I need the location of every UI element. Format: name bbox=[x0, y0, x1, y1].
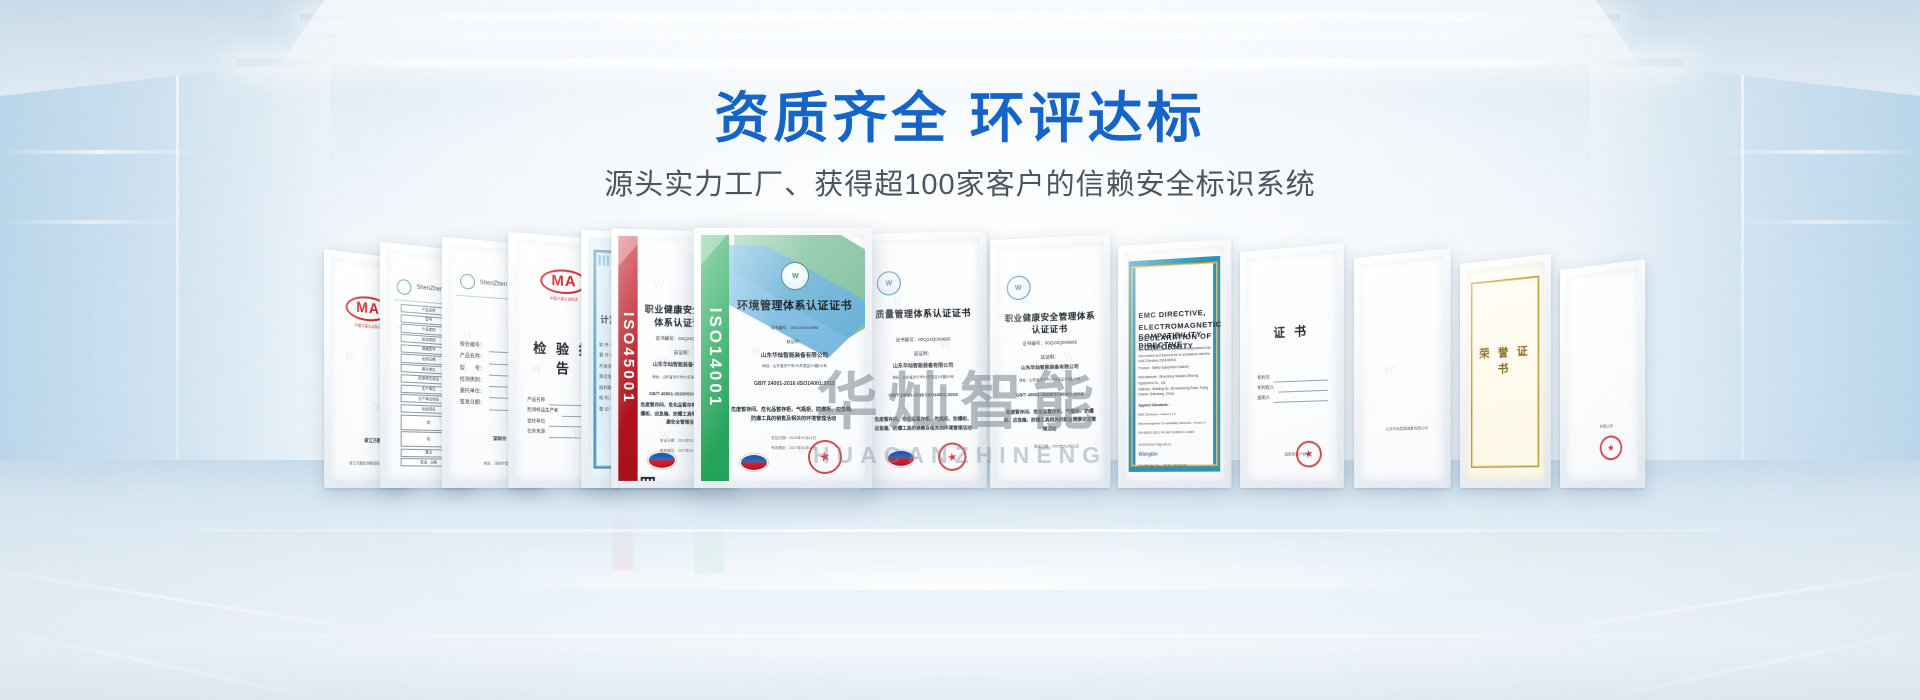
company-logo-roundel bbox=[740, 454, 768, 471]
field-label: 检测类别： bbox=[460, 374, 485, 387]
band-corner-accent bbox=[618, 236, 644, 267]
wall-light-slat bbox=[0, 220, 180, 224]
reflection bbox=[860, 488, 986, 570]
field-label: 型 号： bbox=[460, 363, 485, 376]
standard-reference: GB/T 45001-2020/ISO45001:2018 bbox=[1003, 390, 1097, 400]
signature-label: Authorized Signature bbox=[1138, 441, 1214, 449]
declaration-body: We hereby declare that the following app… bbox=[1138, 345, 1214, 365]
official-seal-stamp: ★ bbox=[805, 436, 845, 476]
page-title: 资质齐全 环评达标 bbox=[0, 86, 1920, 151]
certificate-paper: 有限公司 ★ bbox=[1566, 267, 1638, 481]
certificate-reference: Certificate No. : DOF-CE24142 bbox=[1138, 462, 1214, 469]
field-row: 发明人 bbox=[1257, 391, 1328, 404]
company-address: 地址：山东省济宁市XX开发区XX路XX号 bbox=[734, 363, 855, 369]
certification-scope: 危废暂存间、危化品暂存柜、气瓶柜、防爆柜、应急箱、防爆工具相关的职业健康安全管理… bbox=[1003, 407, 1097, 434]
field-label: 专利号 bbox=[1257, 373, 1270, 384]
field-label: 签发日期： bbox=[460, 398, 485, 410]
company-name: 山东华灿智能装备有限公司 bbox=[734, 351, 855, 361]
certificate-title: 荣 誉 证 书 bbox=[1474, 341, 1536, 378]
certificate-paper: W 职业健康安全管理体系认证证书 证书编号：00Q24Q009895 兹证明： … bbox=[997, 242, 1103, 481]
certificate-title: 质量管理体系认证证书 bbox=[874, 306, 973, 321]
certificate-number: 证书编号：00Q24Q009895 bbox=[874, 335, 973, 345]
company-address: 地址：山东省济宁市XX开发区XX路XX号 bbox=[874, 374, 973, 381]
company-label: 兹证明： bbox=[1003, 352, 1097, 363]
certificate-frame[interactable]: EMC DIRECTIVE, ELECTROMAGNETIC COMPATIBI… bbox=[1118, 239, 1231, 488]
certificate-side-band: ISO14001 bbox=[701, 235, 729, 481]
floor-seam-line bbox=[0, 635, 1920, 638]
certificate-title: 证 书 bbox=[1254, 320, 1330, 342]
certificate-paper: W 质量管理体系认证证书 证书编号：00Q24Q009895 兹证明： 山东华灿… bbox=[867, 238, 980, 481]
reflection bbox=[1354, 488, 1454, 560]
reflection-band bbox=[612, 488, 633, 570]
standard-code-label: ISO45001 bbox=[619, 312, 636, 405]
field-label: 委托单位： bbox=[460, 386, 485, 398]
certificate-frame[interactable]: W 质量管理体系认证证书 证书编号：00Q24Q009895 兹证明： 山东华灿… bbox=[860, 230, 987, 488]
issue-date: 发证日期：2024年01月01日 bbox=[731, 435, 857, 442]
certificate-frame[interactable]: ISO14001 W 环境管理体系认证证书 证书编号：00E24E009895 … bbox=[694, 228, 872, 488]
patent-fields: 专利号 专利权人 发明人 bbox=[1257, 371, 1328, 404]
signature-name: Wangbin bbox=[1138, 450, 1214, 460]
certificate-frame[interactable]: 荣 誉 证 书 bbox=[1460, 253, 1551, 488]
company-address: 地址：山东省济宁市XX开发区XX路XX号 bbox=[1003, 376, 1097, 384]
company-label: 兹证明： bbox=[874, 350, 973, 360]
certification-scope: 危废暂存间、危化品暂存柜、气瓶柜、防爆柜、应急箱、防爆工具的销售及相关的环境管理… bbox=[874, 415, 973, 433]
certificate-footer-note: 有限公司 bbox=[1579, 422, 1635, 431]
ceiling-light-strip bbox=[320, 34, 1600, 39]
organization-seal-icon bbox=[460, 274, 475, 291]
field-label: 检测样品生产者 bbox=[527, 405, 558, 416]
accreditation-badge-icon: W bbox=[781, 262, 809, 290]
band-corner-accent bbox=[701, 235, 727, 265]
address-line: Address : Building No. 28 Huacheng Road,… bbox=[1138, 385, 1214, 399]
certificate-frame[interactable]: 山东华灿智能装备有限公司 W bbox=[1354, 248, 1451, 488]
certificate-title: 职业健康安全管理体系认证证书 bbox=[1003, 309, 1097, 336]
certificate-wall-banner: 资质齐全 环评达标 源头实力工厂、获得超100家客户的信赖安全标识系统 MA 中… bbox=[0, 0, 1920, 700]
reflection bbox=[1460, 488, 1556, 558]
official-seal-stamp: ★ bbox=[935, 440, 969, 474]
company-name: 山东华灿智能装备有限公司 bbox=[1003, 364, 1097, 375]
paper-watermark: W bbox=[1361, 256, 1444, 481]
reflection bbox=[1240, 488, 1346, 562]
certificate-frame[interactable]: 证 书 专利号 专利权人 发明人 国家知识产权局 ★ bbox=[1240, 243, 1344, 488]
page-subtitle: 源头实力工厂、获得超100家客户的信赖安全标识系统 bbox=[0, 167, 1920, 205]
ceiling-light-strip bbox=[300, 14, 1620, 21]
issue-date: 签发日期：2024年01月01日 bbox=[1016, 443, 1098, 451]
company-logo-roundel bbox=[648, 452, 676, 469]
official-seal-stamp: ★ bbox=[1598, 432, 1625, 462]
certificate-paper: 荣 誉 证 书 bbox=[1466, 262, 1544, 481]
field-value bbox=[1274, 391, 1328, 403]
certification-scope: 危废暂存间、危化品暂存柜、气瓶柜、防爆柜、应急箱、防爆工具的销售及相关的环境管理… bbox=[731, 406, 857, 425]
reflection bbox=[694, 488, 872, 574]
field-label: 发明人 bbox=[1257, 393, 1270, 403]
organization-seal-icon bbox=[397, 278, 412, 295]
standard-reference: GB/T 24001-2016 /ISO14001:2015 bbox=[874, 391, 973, 400]
organization-name: ShenZhen bbox=[480, 280, 507, 288]
company-name: 山东华灿智能装备有限公司 bbox=[874, 362, 973, 372]
certificate-number: 证书编号：00Q24Q009895 bbox=[1003, 338, 1097, 349]
ceiling-light-strip bbox=[236, 58, 1684, 67]
field-label: 任务来源 bbox=[527, 427, 545, 438]
reflection bbox=[990, 488, 1110, 568]
certificate-frame[interactable]: W 职业健康安全管理体系认证证书 证书编号：00Q24Q009895 兹证明： … bbox=[990, 234, 1111, 488]
floor-reflections bbox=[0, 488, 1920, 618]
certificate-frame[interactable]: 有限公司 ★ bbox=[1560, 259, 1645, 488]
banner-headings: 资质齐全 环评达标 源头实力工厂、获得超100家客户的信赖安全标识系统 bbox=[0, 86, 1920, 205]
certificate-side-band: ISO45001 bbox=[618, 236, 637, 481]
field-label: 委托单位 bbox=[527, 416, 545, 427]
accreditation-badge-icon: W bbox=[1006, 276, 1030, 301]
organization-name: ShenZhen bbox=[416, 285, 443, 294]
reflection bbox=[1560, 488, 1652, 556]
qr-code bbox=[641, 477, 655, 481]
company-logo-roundel bbox=[887, 449, 915, 466]
wall-light-slat bbox=[1740, 220, 1920, 224]
certificate-paper: EMC DIRECTIVE, ELECTROMAGNETIC COMPATIBI… bbox=[1125, 246, 1225, 481]
certificate-footer-note: 山东华灿智能装备有限公司 bbox=[1375, 424, 1439, 433]
certificate-wall: MA 中国计量认证标志 浙江方圆 浙江方圆检测集团股份有限公司 WW ShenZ… bbox=[0, 228, 1920, 488]
accreditation-badge-icon: W bbox=[877, 271, 901, 296]
field-label: 专利权人 bbox=[1257, 383, 1274, 394]
certificate-title: 环境管理体系认证证书 bbox=[734, 297, 855, 313]
standard-reference: GB/T 24001-2016 /ISO14001:2015 bbox=[734, 380, 855, 389]
certificate-paper: 山东华灿智能装备有限公司 W bbox=[1361, 256, 1444, 481]
certificate-paper: ISO14001 W 环境管理体系认证证书 证书编号：00E24E009895 … bbox=[701, 235, 865, 481]
standard-item: EN 55032:2015, EN IEC 61000-6-1:2019 bbox=[1138, 429, 1214, 436]
official-seal-stamp: ★ bbox=[1294, 438, 1325, 470]
reflection bbox=[1118, 488, 1232, 566]
standard-code-label: ISO14001 bbox=[705, 308, 725, 409]
field-label: 产品名称 bbox=[527, 394, 545, 405]
certificate-number: 证书编号：00E24E009895 bbox=[734, 324, 855, 331]
reflection-band bbox=[694, 488, 724, 574]
certificate-paper: 证 书 专利号 专利权人 发明人 国家知识产权局 ★ bbox=[1247, 250, 1337, 480]
company-label: 兹证明： bbox=[734, 338, 855, 345]
